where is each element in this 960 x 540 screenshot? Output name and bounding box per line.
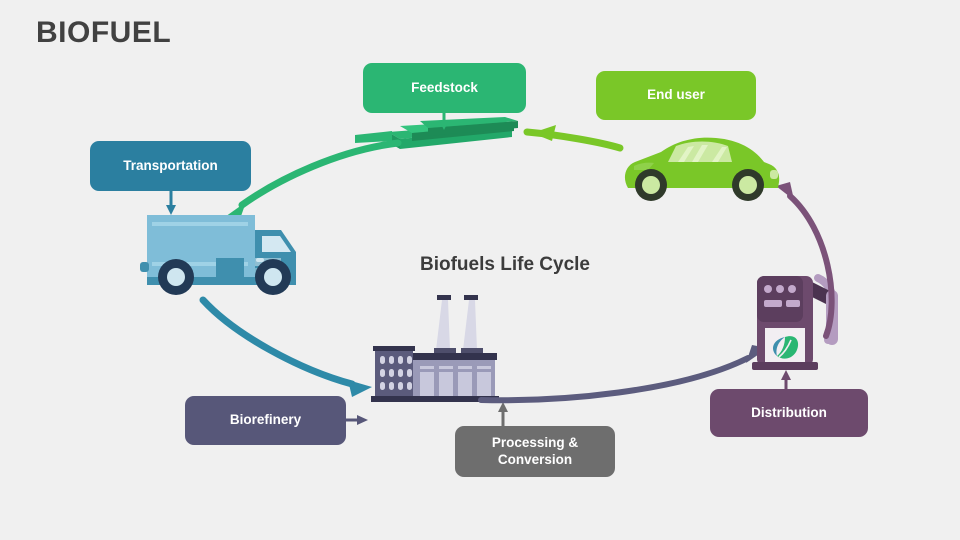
connector-transportation	[166, 191, 176, 215]
connector-biorefinery	[346, 415, 368, 425]
node-label-distribution[interactable]: Distribution	[710, 389, 868, 437]
processing-label-line2: Conversion	[498, 452, 572, 467]
factory-icon	[371, 295, 499, 402]
connector-processing	[498, 402, 508, 426]
arrow-end-user-to-feedstock	[527, 125, 620, 148]
diagram-canvas: BIOFUEL Biofuels Life Cycle	[0, 0, 960, 540]
node-label-transportation[interactable]: Transportation	[90, 141, 251, 191]
connector-distribution	[781, 370, 791, 389]
node-label-feedstock[interactable]: Feedstock	[363, 63, 526, 113]
fuel-pump-icon	[752, 276, 838, 370]
car-icon	[625, 138, 779, 201]
truck-icon	[140, 215, 296, 295]
node-label-processing-conversion[interactable]: Processing & Conversion	[455, 426, 615, 477]
processing-label-line1: Processing &	[492, 435, 578, 450]
node-label-end-user[interactable]: End user	[596, 71, 756, 120]
arrow-transportation-to-biorefinery	[203, 300, 372, 397]
processing-label-text: Processing & Conversion	[492, 435, 578, 468]
node-label-biorefinery[interactable]: Biorefinery	[185, 396, 346, 445]
